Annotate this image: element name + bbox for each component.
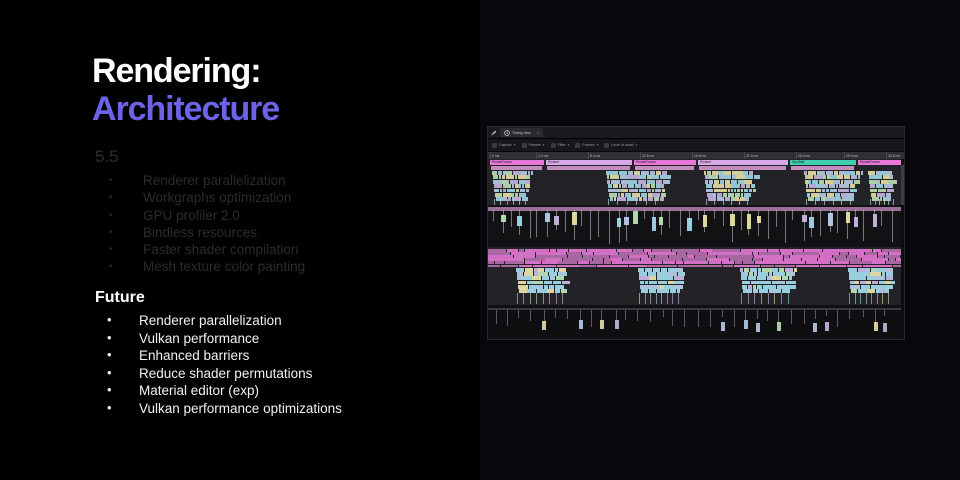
timeline-block[interactable] bbox=[518, 310, 519, 318]
timeline-block[interactable] bbox=[507, 189, 516, 193]
timeline-block[interactable] bbox=[639, 197, 642, 201]
timeline-block[interactable] bbox=[615, 320, 619, 329]
timeline-block[interactable] bbox=[714, 210, 715, 219]
timeline-block[interactable] bbox=[788, 293, 789, 304]
timeline-block[interactable] bbox=[723, 175, 727, 179]
timeline-block[interactable] bbox=[722, 310, 723, 317]
timeline-block[interactable] bbox=[713, 184, 720, 188]
timeline-block[interactable] bbox=[756, 323, 760, 332]
timeline-block[interactable] bbox=[813, 323, 817, 332]
timeline-block[interactable] bbox=[725, 184, 731, 188]
timeline-block[interactable] bbox=[841, 193, 846, 197]
timeline-block[interactable] bbox=[639, 175, 646, 179]
timeline-block[interactable] bbox=[830, 171, 833, 175]
timeline-block[interactable] bbox=[847, 171, 855, 175]
timeline-block[interactable] bbox=[877, 293, 878, 304]
profiler-tab-timing-view[interactable]: Timing view × bbox=[500, 128, 543, 137]
timeline-block[interactable] bbox=[866, 293, 867, 304]
timeline-block[interactable] bbox=[678, 293, 679, 304]
timeline-block[interactable] bbox=[753, 189, 756, 193]
timeline-block[interactable] bbox=[749, 193, 751, 197]
timeline-block[interactable] bbox=[619, 171, 627, 175]
timeline-block[interactable] bbox=[537, 289, 540, 293]
timeline-block[interactable] bbox=[709, 180, 713, 184]
timeline-block[interactable] bbox=[698, 310, 699, 327]
timeline-block[interactable] bbox=[656, 171, 661, 175]
timeline-block[interactable] bbox=[723, 189, 727, 193]
timeline-block[interactable] bbox=[609, 210, 610, 244]
timeline-block[interactable] bbox=[510, 180, 512, 184]
timeline-block[interactable] bbox=[600, 320, 604, 329]
timeline-block[interactable] bbox=[496, 310, 497, 324]
timeline-block[interactable] bbox=[871, 293, 872, 304]
timeline-block[interactable] bbox=[581, 210, 582, 226]
timeline-block[interactable] bbox=[728, 175, 731, 179]
timeline-block[interactable] bbox=[635, 166, 694, 170]
timeline-block[interactable] bbox=[498, 171, 502, 175]
timeline-block[interactable] bbox=[651, 184, 656, 188]
timeline-block[interactable] bbox=[745, 310, 746, 320]
timeline-block[interactable] bbox=[805, 180, 807, 184]
timeline-block[interactable] bbox=[545, 213, 550, 222]
timeline-block[interactable] bbox=[597, 265, 628, 268]
timeline-block[interactable] bbox=[728, 193, 735, 197]
timeline-block[interactable] bbox=[870, 184, 876, 188]
timeline-block[interactable] bbox=[751, 184, 756, 188]
timeline-block[interactable] bbox=[808, 180, 811, 184]
timeline-block[interactable] bbox=[735, 193, 740, 197]
timeline-block[interactable] bbox=[741, 210, 742, 230]
timeline-block[interactable] bbox=[768, 293, 769, 304]
timeline-block[interactable] bbox=[846, 212, 851, 224]
timeline-block[interactable] bbox=[850, 189, 857, 193]
timeline-block[interactable] bbox=[748, 293, 749, 304]
timeline-block[interactable] bbox=[791, 166, 854, 170]
timeline-block[interactable] bbox=[827, 175, 829, 179]
timeline-block[interactable] bbox=[734, 310, 735, 327]
timeline-block[interactable] bbox=[820, 265, 846, 268]
timeline-block[interactable] bbox=[562, 293, 563, 304]
timeline-block[interactable] bbox=[851, 197, 853, 201]
timeline-block[interactable] bbox=[646, 265, 677, 268]
timeline-block[interactable] bbox=[494, 189, 499, 193]
timeline-block[interactable] bbox=[622, 184, 627, 188]
timeline-block[interactable] bbox=[758, 210, 759, 236]
timeline-block[interactable] bbox=[757, 310, 758, 319]
timeline-block[interactable] bbox=[666, 175, 670, 179]
toolbar-item-filter[interactable]: Filter ▾ bbox=[551, 143, 570, 148]
timeline-block[interactable] bbox=[519, 180, 523, 184]
timeline-block[interactable] bbox=[607, 180, 610, 184]
timeline-block[interactable] bbox=[648, 197, 653, 201]
timeline-block[interactable] bbox=[831, 193, 834, 197]
timeline-block[interactable] bbox=[868, 171, 875, 175]
timeline-block[interactable] bbox=[503, 171, 505, 175]
timeline-block[interactable] bbox=[619, 184, 622, 188]
timeline-block[interactable] bbox=[740, 197, 745, 201]
timeline-block[interactable] bbox=[730, 214, 735, 226]
timeline-block[interactable] bbox=[741, 189, 744, 193]
timeline-block[interactable] bbox=[886, 171, 892, 175]
timeline-block[interactable] bbox=[849, 310, 850, 319]
timeline-block[interactable] bbox=[846, 193, 854, 197]
timeline-block[interactable] bbox=[761, 265, 774, 268]
timeline-block[interactable] bbox=[863, 265, 892, 268]
timeline-block[interactable] bbox=[856, 171, 860, 175]
timeline-block[interactable] bbox=[554, 216, 559, 225]
timeline-block[interactable] bbox=[744, 193, 749, 197]
timeline-block[interactable] bbox=[622, 189, 628, 193]
timeline-block[interactable] bbox=[625, 310, 626, 320]
timeline-block[interactable] bbox=[641, 193, 647, 197]
timeline-block[interactable] bbox=[647, 180, 656, 184]
timeline-block[interactable] bbox=[808, 197, 814, 201]
timeline-block[interactable] bbox=[741, 193, 743, 197]
timeline-block[interactable] bbox=[511, 210, 512, 227]
timeline-block[interactable] bbox=[869, 175, 877, 179]
timeline-block[interactable] bbox=[889, 180, 897, 184]
timeline-block[interactable] bbox=[645, 293, 646, 304]
timeline-block[interactable] bbox=[533, 265, 556, 268]
timeline-block[interactable] bbox=[812, 180, 818, 184]
timeline-block[interactable] bbox=[567, 310, 568, 319]
timeline-block[interactable] bbox=[512, 184, 515, 188]
timeline-block[interactable] bbox=[651, 175, 659, 179]
timeline-block[interactable] bbox=[826, 310, 827, 316]
timeline-block[interactable]: RenderFrame bbox=[858, 160, 902, 165]
timeline-block[interactable] bbox=[503, 184, 511, 188]
timeline-block[interactable] bbox=[639, 189, 647, 193]
timeline-block[interactable] bbox=[855, 293, 856, 304]
timeline-block[interactable] bbox=[720, 184, 724, 188]
timeline-block[interactable] bbox=[633, 211, 638, 224]
timeline-block[interactable] bbox=[706, 189, 712, 193]
timeline-block[interactable] bbox=[512, 180, 518, 184]
timeline-block[interactable] bbox=[522, 184, 525, 188]
timeline-block[interactable] bbox=[515, 184, 518, 188]
timeline-block[interactable] bbox=[508, 197, 511, 201]
timeline-block[interactable] bbox=[547, 166, 630, 170]
timeline-block[interactable] bbox=[501, 265, 518, 268]
timeline-block[interactable]: Present bbox=[698, 160, 788, 165]
timeline-block[interactable] bbox=[774, 293, 775, 304]
timeline-block[interactable] bbox=[850, 184, 854, 188]
timeline-block[interactable] bbox=[625, 193, 631, 197]
timeline-block[interactable] bbox=[719, 175, 723, 179]
timeline-block[interactable] bbox=[808, 175, 813, 179]
timeline-block[interactable] bbox=[854, 217, 859, 226]
timeline-block[interactable] bbox=[873, 214, 878, 227]
timeline-block[interactable] bbox=[829, 175, 833, 179]
toolbar-item-capture[interactable]: Capture ▾ bbox=[492, 143, 516, 148]
timeline-block[interactable] bbox=[749, 189, 752, 193]
timeline-block[interactable] bbox=[652, 193, 660, 197]
timeline-block[interactable] bbox=[633, 175, 638, 179]
timeline-block[interactable] bbox=[785, 210, 786, 243]
vertical-scrollbar[interactable] bbox=[901, 159, 904, 339]
timeline-block[interactable] bbox=[488, 207, 902, 211]
timeline-block[interactable] bbox=[632, 193, 641, 197]
timeline-block[interactable] bbox=[515, 193, 518, 197]
timeline-block[interactable] bbox=[712, 171, 718, 175]
timeline-block[interactable] bbox=[528, 171, 531, 175]
timeline-block[interactable] bbox=[844, 175, 850, 179]
timeline-block[interactable] bbox=[662, 171, 667, 175]
timeline-block[interactable] bbox=[521, 171, 526, 175]
timeline-block[interactable] bbox=[737, 189, 740, 193]
timeline-block[interactable] bbox=[661, 193, 666, 197]
timeline-block[interactable] bbox=[500, 189, 502, 193]
timeline-block[interactable] bbox=[884, 310, 885, 316]
timeline-block[interactable] bbox=[887, 189, 894, 193]
timeline-block[interactable] bbox=[874, 322, 878, 331]
timeline-block[interactable] bbox=[620, 175, 628, 179]
timeline-block[interactable] bbox=[687, 218, 692, 230]
timeline-block[interactable] bbox=[725, 197, 730, 201]
timeline-block[interactable] bbox=[888, 293, 889, 304]
timeline-block[interactable] bbox=[621, 180, 630, 184]
timeline-block[interactable] bbox=[845, 189, 849, 193]
timeline-block[interactable] bbox=[501, 215, 506, 222]
timeline-block[interactable] bbox=[637, 310, 638, 321]
profiler-toolbar[interactable]: Capture ▾ Presets ▾ Filter ▾ Frames ▾ Le… bbox=[488, 139, 904, 152]
timeline-block[interactable] bbox=[833, 180, 840, 184]
timeline-body[interactable]: RenderFramePresentRenderFramePresentGpuW… bbox=[488, 159, 904, 339]
timeline-block[interactable] bbox=[858, 175, 860, 179]
timeline-block[interactable] bbox=[825, 322, 829, 331]
timeline-block[interactable]: GpuWait bbox=[790, 160, 856, 165]
timeline-block[interactable] bbox=[863, 310, 864, 317]
timeline-block[interactable] bbox=[608, 189, 615, 193]
timeline-block[interactable] bbox=[723, 193, 727, 197]
timeline-block[interactable] bbox=[826, 171, 830, 175]
timeline-block[interactable] bbox=[881, 210, 882, 226]
timeline-block[interactable] bbox=[634, 171, 640, 175]
timeline-block[interactable] bbox=[736, 175, 744, 179]
timeline-block[interactable] bbox=[741, 293, 742, 304]
timeline-block[interactable] bbox=[829, 184, 835, 188]
timeline-block[interactable] bbox=[495, 193, 498, 197]
timeline-block[interactable] bbox=[703, 215, 708, 226]
timeline-block[interactable] bbox=[806, 189, 815, 193]
timeline-block[interactable] bbox=[861, 171, 863, 175]
timeline-block[interactable] bbox=[869, 180, 877, 184]
timeline-block[interactable] bbox=[754, 293, 755, 304]
close-icon[interactable]: × bbox=[537, 130, 539, 135]
timeline-block[interactable] bbox=[530, 310, 531, 321]
timeline-block[interactable] bbox=[828, 213, 833, 225]
timeline-block[interactable] bbox=[672, 293, 673, 304]
timeline-block[interactable] bbox=[718, 171, 722, 175]
timeline-block[interactable] bbox=[823, 175, 826, 179]
timeline-block[interactable] bbox=[517, 293, 518, 304]
timeline-block[interactable] bbox=[611, 180, 617, 184]
timeline-block[interactable] bbox=[854, 180, 860, 184]
timeline-block[interactable] bbox=[860, 293, 861, 304]
timeline-block[interactable] bbox=[747, 214, 752, 229]
timeline-block[interactable] bbox=[841, 180, 843, 184]
timeline-block[interactable] bbox=[725, 180, 730, 184]
timeline-block[interactable] bbox=[716, 189, 722, 193]
toolbar-item-presets[interactable]: Presets ▾ bbox=[522, 143, 545, 148]
timeline-block[interactable] bbox=[493, 210, 494, 221]
timeline-block[interactable] bbox=[518, 175, 525, 179]
timeline-block[interactable] bbox=[731, 184, 740, 188]
timeline-block[interactable] bbox=[572, 212, 577, 224]
timeline-block[interactable] bbox=[804, 310, 805, 324]
timeline-block[interactable] bbox=[652, 189, 655, 193]
timeline-block[interactable] bbox=[494, 184, 502, 188]
timeline-block[interactable] bbox=[834, 171, 838, 175]
timeline-block[interactable] bbox=[890, 175, 893, 179]
timeline-block[interactable] bbox=[656, 184, 660, 188]
timeline-block[interactable] bbox=[704, 171, 706, 175]
timeline-block[interactable] bbox=[809, 217, 814, 228]
timeline-block[interactable] bbox=[723, 265, 733, 268]
timeline-block[interactable] bbox=[870, 189, 877, 193]
timeline-block[interactable]: RenderFrame bbox=[490, 160, 544, 165]
timeline-block[interactable] bbox=[884, 184, 890, 188]
timeline-block[interactable] bbox=[656, 180, 662, 184]
timeline-block[interactable] bbox=[650, 293, 651, 304]
timeline-block[interactable] bbox=[618, 193, 620, 197]
timeline-block[interactable] bbox=[822, 184, 828, 188]
timeline-block[interactable] bbox=[815, 310, 816, 319]
timeline-block[interactable] bbox=[660, 184, 663, 188]
timeline-block[interactable] bbox=[543, 293, 544, 304]
timeline-block[interactable] bbox=[732, 175, 736, 179]
timeline-block[interactable] bbox=[808, 171, 816, 175]
timeline-block[interactable] bbox=[647, 184, 650, 188]
timeline-block[interactable] bbox=[822, 189, 825, 193]
timeline-block[interactable] bbox=[531, 171, 533, 175]
timeline-block[interactable] bbox=[519, 193, 527, 197]
timeline-block[interactable] bbox=[814, 175, 823, 179]
timeline-block[interactable] bbox=[614, 197, 617, 201]
timeline-block[interactable] bbox=[672, 310, 673, 326]
timeline-block[interactable] bbox=[796, 265, 820, 268]
timeline-block[interactable] bbox=[638, 180, 647, 184]
timeline-block[interactable] bbox=[516, 189, 519, 193]
timeline-block[interactable] bbox=[611, 171, 618, 175]
timeline-block[interactable] bbox=[890, 184, 893, 188]
timeline-block[interactable] bbox=[507, 310, 508, 326]
timeline-block[interactable] bbox=[826, 189, 830, 193]
timeline-block[interactable] bbox=[513, 171, 521, 175]
timeline-block[interactable] bbox=[499, 175, 501, 179]
timeline-block[interactable] bbox=[767, 310, 768, 321]
timeline-block[interactable] bbox=[738, 180, 744, 184]
timeline-block[interactable] bbox=[839, 184, 847, 188]
timeline-block[interactable] bbox=[804, 171, 807, 175]
timeline-block[interactable] bbox=[518, 184, 521, 188]
timeline-block[interactable] bbox=[802, 215, 807, 222]
timeline-block[interactable] bbox=[706, 184, 712, 188]
timeline-block[interactable] bbox=[542, 321, 546, 330]
timeline-block[interactable] bbox=[878, 180, 880, 184]
timeline-block[interactable] bbox=[511, 193, 514, 197]
timeline-block[interactable] bbox=[705, 180, 708, 184]
timeline-block[interactable] bbox=[830, 189, 837, 193]
timeline-block[interactable] bbox=[732, 171, 739, 175]
timeline-block[interactable] bbox=[590, 210, 591, 240]
timeline-block[interactable]: RenderFrame bbox=[634, 160, 696, 165]
timeline-block[interactable] bbox=[714, 189, 716, 193]
timeline-block[interactable] bbox=[549, 293, 550, 304]
timeline-block[interactable] bbox=[579, 265, 596, 268]
timeline-block[interactable] bbox=[833, 197, 841, 201]
timeline-block[interactable] bbox=[731, 180, 737, 184]
timeline-block[interactable] bbox=[647, 175, 651, 179]
timeline-block[interactable] bbox=[660, 197, 665, 201]
timeline-block[interactable] bbox=[713, 193, 716, 197]
timeline-block[interactable] bbox=[834, 175, 836, 179]
timeline-block[interactable] bbox=[678, 265, 699, 268]
timeline-block[interactable] bbox=[660, 175, 666, 179]
timeline-block[interactable] bbox=[809, 184, 816, 188]
timeline-block[interactable] bbox=[883, 323, 887, 332]
timeline-block[interactable] bbox=[876, 184, 883, 188]
timeline-block[interactable] bbox=[775, 265, 795, 268]
timeline-block[interactable] bbox=[628, 171, 633, 175]
timeline-block[interactable] bbox=[656, 293, 657, 304]
timeline-block[interactable] bbox=[792, 210, 793, 220]
timeline-band-gpu-queues[interactable] bbox=[488, 247, 904, 305]
timeline-block[interactable] bbox=[629, 265, 645, 268]
timeline-block[interactable] bbox=[754, 175, 760, 179]
timeline-block[interactable] bbox=[662, 189, 665, 193]
timeline-block[interactable] bbox=[526, 189, 529, 193]
timeline-block[interactable] bbox=[820, 210, 821, 236]
timeline-block[interactable] bbox=[556, 293, 557, 304]
timeline-block[interactable] bbox=[650, 310, 651, 322]
timeline-block[interactable] bbox=[680, 210, 681, 236]
timeline-block[interactable] bbox=[749, 171, 754, 175]
timeline-block[interactable] bbox=[501, 180, 508, 184]
gpu-profiler-window[interactable]: Timing view × Capture ▾ Presets ▾ Filter… bbox=[487, 126, 905, 340]
timeline-block[interactable] bbox=[506, 175, 514, 179]
timeline-block[interactable] bbox=[892, 210, 893, 242]
timeline-block[interactable] bbox=[525, 184, 530, 188]
timeline-block[interactable] bbox=[723, 210, 724, 226]
timeline-block[interactable] bbox=[768, 210, 769, 239]
timeline-block[interactable] bbox=[639, 293, 640, 304]
timeline-block[interactable] bbox=[505, 171, 512, 175]
timeline-block[interactable]: Present bbox=[546, 160, 632, 165]
timeline-block[interactable] bbox=[492, 171, 497, 175]
timeline-block[interactable] bbox=[790, 285, 795, 289]
timeline-block[interactable] bbox=[616, 189, 621, 193]
timeline-block[interactable] bbox=[707, 193, 713, 197]
timeline-block[interactable] bbox=[530, 293, 531, 304]
timeline-block[interactable] bbox=[877, 175, 882, 179]
timeline-block[interactable] bbox=[684, 310, 685, 327]
timeline-block[interactable] bbox=[851, 175, 857, 179]
timeline-block[interactable] bbox=[591, 310, 592, 327]
timeline-block[interactable] bbox=[847, 184, 849, 188]
timeline-block[interactable] bbox=[624, 217, 629, 224]
timeline-block[interactable] bbox=[667, 293, 668, 304]
timeline-block[interactable] bbox=[647, 189, 651, 193]
timeline-block[interactable] bbox=[805, 175, 808, 179]
timeline-block[interactable] bbox=[635, 189, 637, 193]
timeline-block[interactable] bbox=[598, 210, 599, 237]
timeline-block[interactable] bbox=[617, 180, 620, 184]
timeline-block[interactable] bbox=[880, 197, 882, 201]
timeline-block[interactable] bbox=[503, 189, 506, 193]
timeline-block[interactable] bbox=[776, 210, 777, 227]
timeline-block[interactable] bbox=[652, 217, 657, 231]
